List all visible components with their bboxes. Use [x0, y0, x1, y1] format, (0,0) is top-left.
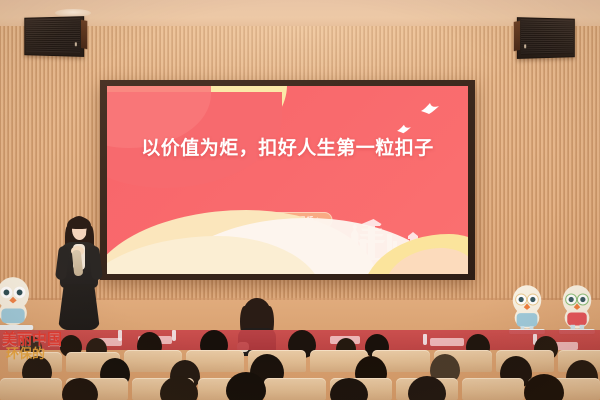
- auditorium-scene: 以价值为炬，扣好人生第一粒扣子 汇报人：☆杨星桥☆: [0, 0, 600, 400]
- speaker-right: [519, 17, 575, 57]
- presentation-slide: 以价值为炬，扣好人生第一粒扣子 汇报人：☆杨星桥☆: [107, 86, 468, 274]
- owl-figure-icon: [0, 272, 36, 326]
- slide-title: 以价值为炬，扣好人生第一粒扣子: [107, 136, 468, 162]
- auditorium-seat: [462, 378, 524, 400]
- left-banner: 美丽中国 环保的: [0, 328, 72, 364]
- speaker-left: [24, 16, 82, 55]
- bird-icon: [420, 102, 440, 115]
- owl-figure-icon: [556, 282, 598, 330]
- led-screen[interactable]: 以价值为炬，扣好人生第一粒扣子 汇报人：☆杨星桥☆: [100, 80, 475, 280]
- presenter-person: [54, 216, 104, 330]
- water-bottle: [118, 330, 122, 341]
- water-bottle: [423, 334, 427, 345]
- bird-icon: [396, 124, 412, 134]
- auditorium-seat: [264, 378, 326, 400]
- banner-line-2: 环保的: [6, 343, 45, 362]
- owl-mascot-red: [556, 282, 598, 334]
- owl-mascot-blue: [506, 282, 548, 334]
- owl-figure-icon: [506, 282, 548, 330]
- owl-mascot-far-left: [0, 272, 36, 330]
- water-bottle: [172, 330, 176, 341]
- auditorium-seat: [0, 378, 62, 400]
- desk-pad: [430, 338, 464, 346]
